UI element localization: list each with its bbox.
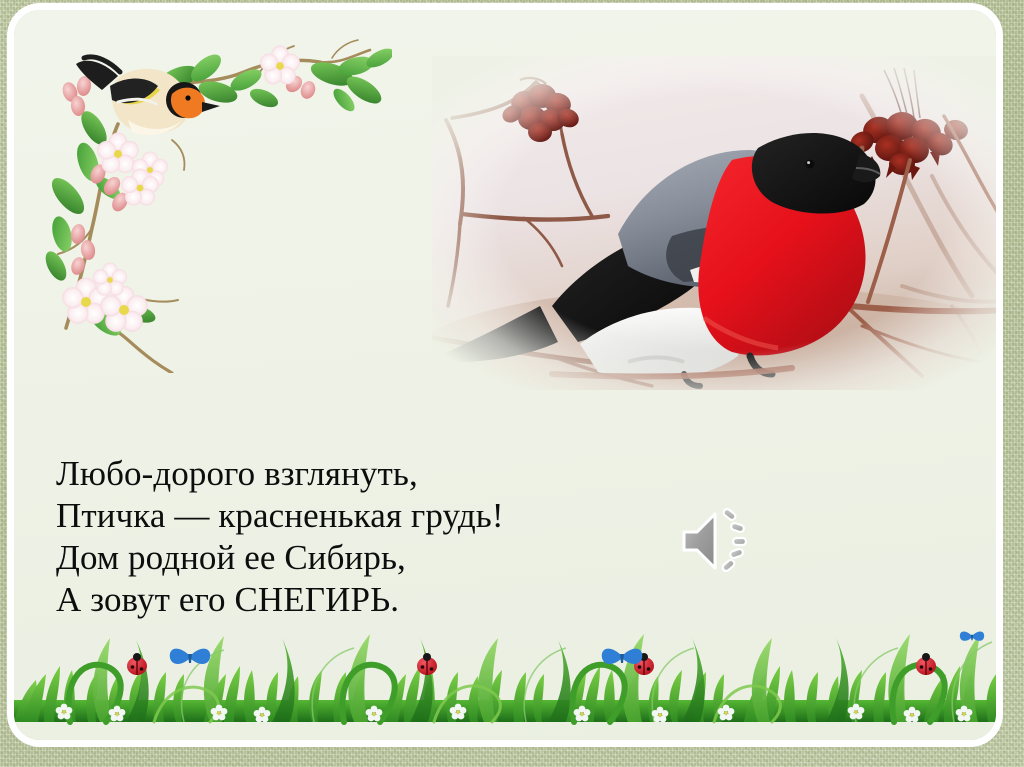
floral-corner-with-bird-decoration bbox=[32, 28, 392, 373]
butterfly-group bbox=[170, 632, 984, 664]
verse-line-1: Любо-дорого взглянуть, bbox=[56, 453, 676, 495]
slide-panel: Любо-дорого взглянуть, Птичка — краснень… bbox=[14, 10, 996, 740]
verse-line-3: Дом родной ее Сибирь, bbox=[56, 537, 676, 579]
verse-line-2: Птичка — красненькая грудь! bbox=[56, 495, 676, 537]
slide-canvas: Любо-дорого взглянуть, Птичка — краснень… bbox=[0, 0, 1024, 767]
verse-line-4: А зовут его СНЕГИРЬ. bbox=[56, 579, 676, 621]
sound-icon[interactable] bbox=[677, 507, 753, 575]
grass-border bbox=[14, 622, 996, 740]
ladybug-group bbox=[127, 653, 936, 675]
bullfinch-photo bbox=[432, 56, 996, 390]
verse-text: Любо-дорого взглянуть, Птичка — краснень… bbox=[56, 453, 676, 621]
